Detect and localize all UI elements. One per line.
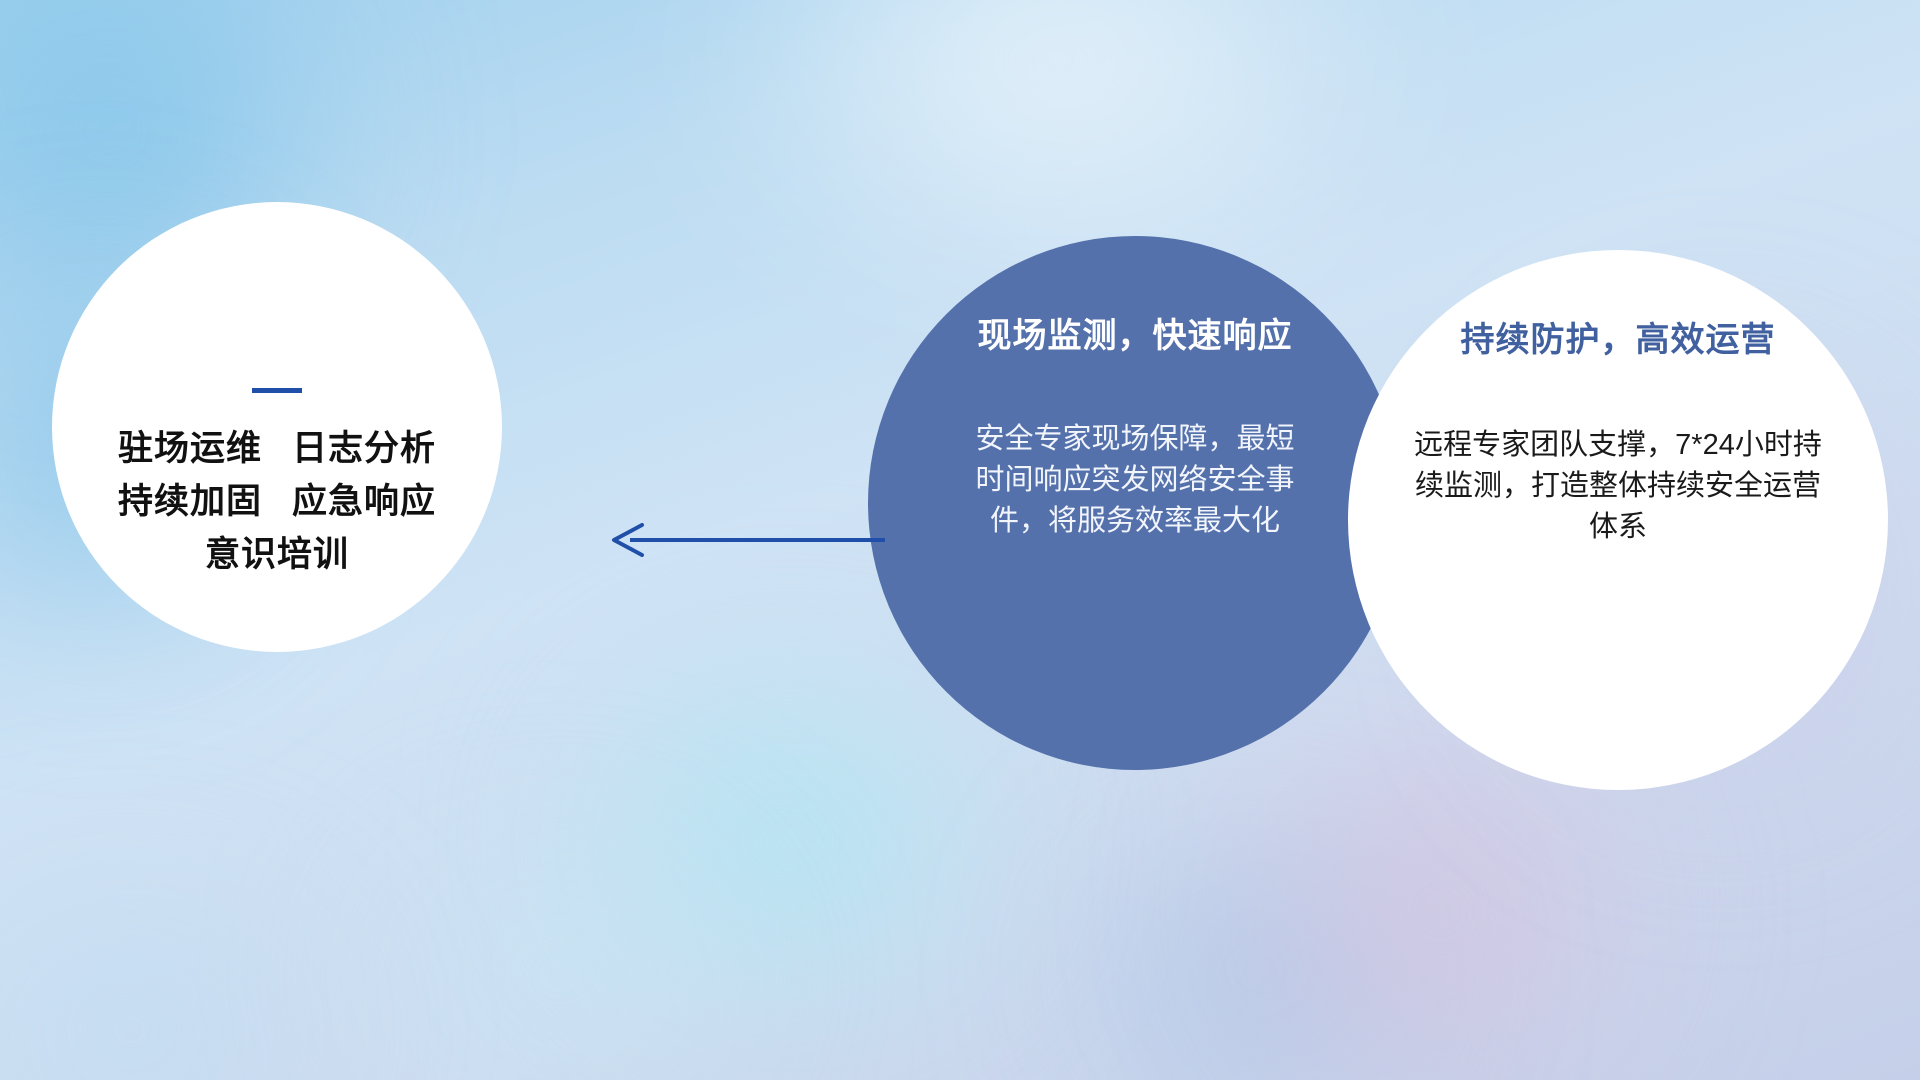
left-circle-keyword-list: 驻场运维 日志分析 持续加固 应急响应 意识培训	[118, 431, 436, 573]
keyword-yishipeixun: 意识培训	[205, 537, 349, 574]
left-circle-row-2: 持续加固 应急响应	[118, 484, 436, 521]
slide-canvas: 驻场运维 日志分析 持续加固 应急响应 意识培训 现场监测，快速响应 安全专家现…	[0, 0, 1920, 1080]
arrow-left-icon	[600, 505, 890, 575]
keyword-yingjixiangying: 应急响应	[292, 484, 436, 521]
center-blue-circle[interactable]	[868, 236, 1402, 770]
connector-arrow	[600, 505, 890, 575]
right-white-circle[interactable]	[1348, 250, 1888, 790]
keyword-zhuchangyunwei: 驻场运维	[118, 431, 262, 468]
keyword-rizhifenxi: 日志分析	[292, 431, 436, 468]
left-circle-row-1: 驻场运维 日志分析	[118, 431, 436, 468]
left-circle-divider	[252, 388, 302, 393]
keyword-chixujiagu: 持续加固	[118, 484, 262, 521]
left-circle-row-3: 意识培训	[205, 537, 349, 574]
left-circle-content: 驻场运维 日志分析 持续加固 应急响应 意识培训	[52, 202, 502, 652]
